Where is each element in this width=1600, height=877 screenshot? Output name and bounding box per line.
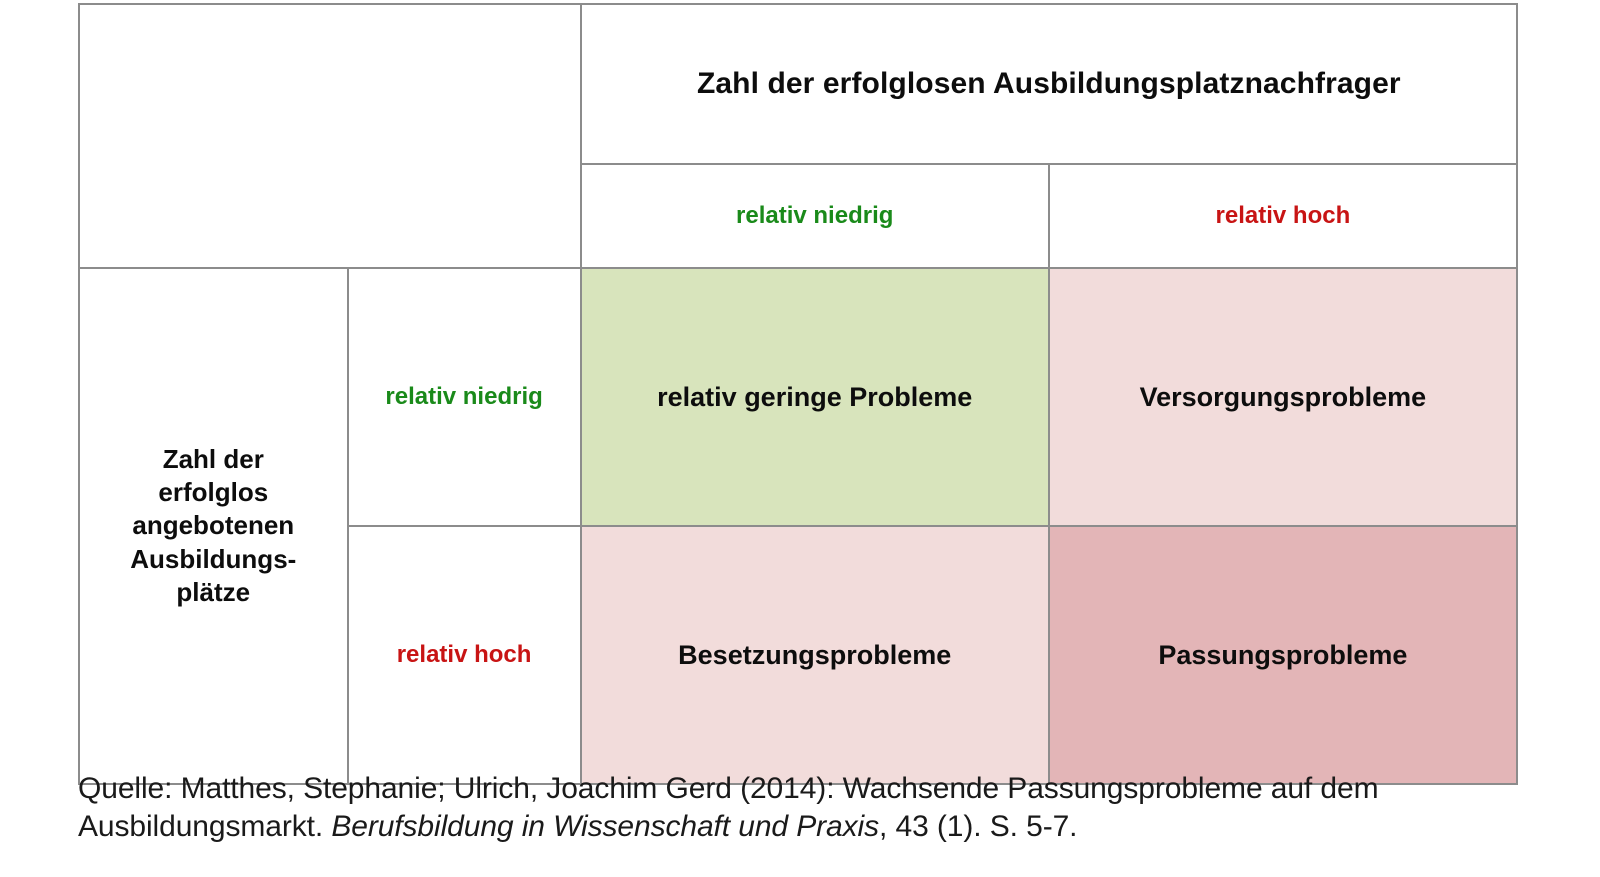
cell-passungsprobleme: Passungsprobleme [1049, 526, 1517, 784]
table-row-column-group-title: Zahl der erfolglosen Ausbildungsplatznac… [79, 4, 1517, 164]
table-row-data-low: Zahl der erfolglos angebotenen Ausbildun… [79, 268, 1517, 526]
cell-label-versorgungsprobleme: Versorgungsprobleme [1140, 382, 1427, 412]
row-group-title-line-2: erfolglos [158, 477, 268, 507]
column-header-label-low: relativ niedrig [736, 202, 893, 229]
column-header-label-high: relativ hoch [1216, 202, 1351, 229]
column-header-relativ-niedrig: relativ niedrig [581, 164, 1049, 268]
row-group-title-line-5: plätze [176, 577, 250, 607]
cell-besetzungsprobleme: Besetzungsprobleme [581, 526, 1049, 784]
column-header-relativ-hoch: relativ hoch [1049, 164, 1517, 268]
cell-label-passungsprobleme: Passungsprobleme [1158, 640, 1407, 670]
source-citation: Quelle: Matthes, Stephanie; Ulrich, Joac… [78, 770, 1528, 847]
column-group-title: Zahl der erfolglosen Ausbildungsplatznac… [581, 4, 1517, 164]
cell-label-relativ-geringe-probleme: relativ geringe Probleme [657, 382, 972, 412]
source-citation-journal: Berufsbildung in Wissenschaft und Praxis [331, 810, 879, 843]
cell-relativ-geringe-probleme: relativ geringe Probleme [581, 268, 1049, 526]
row-header-relativ-niedrig: relativ niedrig [348, 268, 581, 526]
row-header-label-high: relativ hoch [397, 641, 532, 668]
row-group-title-line-3: angebotenen [132, 510, 294, 540]
problem-matrix-table: Zahl der erfolglosen Ausbildungsplatznac… [78, 3, 1518, 785]
matrix-corner-cell [79, 4, 581, 268]
source-citation-suffix: , 43 (1). S. 5-7. [879, 810, 1077, 843]
figure-container: Zahl der erfolglosen Ausbildungsplatznac… [0, 0, 1600, 877]
row-group-title: Zahl der erfolglos angebotenen Ausbildun… [79, 268, 348, 784]
cell-label-besetzungsprobleme: Besetzungsprobleme [678, 640, 951, 670]
row-header-relativ-hoch: relativ hoch [348, 526, 581, 784]
cell-versorgungsprobleme: Versorgungsprobleme [1049, 268, 1517, 526]
row-header-label-low: relativ niedrig [385, 383, 542, 410]
row-group-title-line-1: Zahl der [163, 444, 264, 474]
row-group-title-line-4: Ausbildungs- [130, 544, 296, 574]
